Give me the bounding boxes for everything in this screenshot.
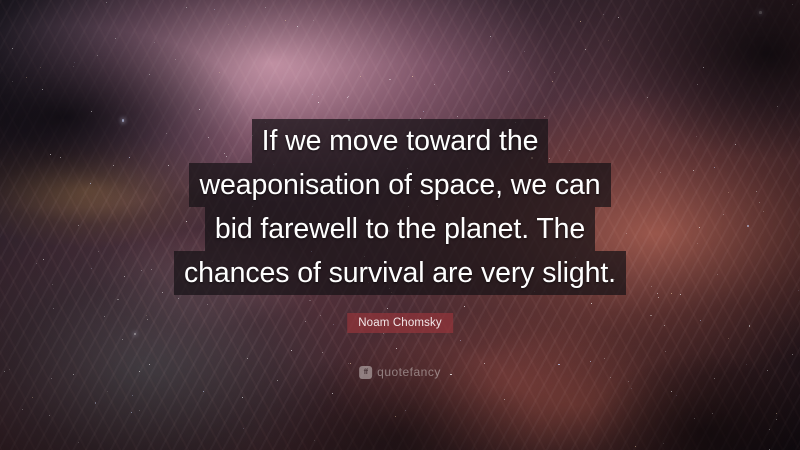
star-icon xyxy=(104,316,105,317)
star-icon xyxy=(333,324,334,325)
star-icon xyxy=(117,299,119,301)
star-icon xyxy=(32,397,33,398)
star-icon xyxy=(318,102,319,103)
watermark-brand-label: quotefancy xyxy=(377,366,441,379)
watermark[interactable]: ff quotefancy xyxy=(359,366,441,379)
star-icon xyxy=(312,94,313,95)
star-icon xyxy=(558,364,560,366)
star-icon xyxy=(395,416,396,417)
star-icon xyxy=(694,418,695,419)
star-icon xyxy=(712,413,713,414)
star-icon xyxy=(603,14,604,15)
star-icon xyxy=(618,17,619,18)
star-icon xyxy=(154,42,155,43)
star-icon xyxy=(318,96,319,97)
star-icon xyxy=(186,7,187,8)
star-icon xyxy=(243,428,244,429)
star-icon xyxy=(149,364,150,365)
star-icon xyxy=(291,350,292,351)
star-icon xyxy=(464,306,465,307)
star-icon xyxy=(347,97,348,98)
star-icon xyxy=(146,315,147,316)
star-icon xyxy=(242,397,243,398)
star-icon xyxy=(608,40,609,41)
star-icon xyxy=(544,116,545,117)
star-icon xyxy=(134,333,137,336)
star-icon xyxy=(697,84,698,85)
star-icon xyxy=(777,106,778,107)
star-icon xyxy=(228,24,229,25)
star-icon xyxy=(247,358,248,359)
star-icon xyxy=(759,11,762,14)
quote-line: chances of survival are very slight. xyxy=(174,251,626,295)
star-icon xyxy=(635,446,636,447)
star-icon xyxy=(508,71,509,72)
star-icon xyxy=(658,297,659,298)
quote-text-block: If we move toward the weaponisation of s… xyxy=(0,119,800,295)
star-icon xyxy=(776,419,777,420)
star-icon xyxy=(728,338,729,339)
star-icon xyxy=(285,20,286,21)
star-icon xyxy=(360,76,361,77)
star-icon xyxy=(457,116,458,117)
star-icon xyxy=(122,339,123,340)
star-icon xyxy=(277,380,278,381)
star-icon xyxy=(26,77,27,78)
star-icon xyxy=(322,352,323,353)
star-icon xyxy=(628,381,629,382)
star-icon xyxy=(423,111,424,112)
star-icon xyxy=(389,79,391,81)
star-icon xyxy=(348,363,349,364)
star-icon xyxy=(650,315,652,317)
star-icon xyxy=(610,377,611,378)
star-icon xyxy=(12,48,13,49)
quote-line: If we move toward the xyxy=(252,119,549,163)
star-icon xyxy=(115,38,116,39)
star-icon xyxy=(412,76,413,77)
star-icon xyxy=(484,363,485,364)
star-icon xyxy=(434,84,435,85)
star-icon xyxy=(4,371,5,372)
star-icon xyxy=(676,395,677,396)
star-icon xyxy=(139,410,140,411)
star-icon xyxy=(450,374,452,376)
star-icon xyxy=(42,89,43,90)
star-icon xyxy=(91,111,92,112)
star-icon xyxy=(671,391,672,392)
star-icon xyxy=(792,354,793,355)
star-icon xyxy=(703,67,704,68)
star-icon xyxy=(73,66,74,67)
quote-line: bid farewell to the planet. The xyxy=(205,207,595,251)
star-icon xyxy=(332,393,333,394)
star-icon xyxy=(604,358,605,359)
star-icon xyxy=(219,72,220,73)
star-icon xyxy=(132,395,133,396)
star-icon xyxy=(9,369,10,370)
star-icon xyxy=(199,109,200,110)
star-icon xyxy=(139,371,140,372)
star-icon xyxy=(207,304,208,305)
star-icon xyxy=(405,410,406,411)
star-icon xyxy=(524,51,526,53)
star-icon xyxy=(776,413,777,414)
star-icon xyxy=(769,429,770,430)
star-icon xyxy=(309,300,311,302)
star-icon xyxy=(590,361,591,362)
star-icon xyxy=(504,399,505,400)
star-icon xyxy=(305,321,306,322)
star-icon xyxy=(40,67,41,68)
star-icon xyxy=(591,303,592,304)
star-icon xyxy=(175,59,176,60)
star-icon xyxy=(767,370,768,371)
star-icon xyxy=(95,402,97,404)
star-icon xyxy=(746,364,747,365)
star-icon xyxy=(203,391,204,392)
star-icon xyxy=(554,72,555,73)
star-icon xyxy=(396,348,398,350)
star-icon xyxy=(714,378,715,379)
star-icon xyxy=(97,55,98,56)
star-icon xyxy=(663,443,664,444)
star-icon xyxy=(350,363,351,364)
quotefancy-logo-icon: ff xyxy=(359,366,372,379)
star-icon xyxy=(22,409,23,410)
star-icon xyxy=(297,26,298,27)
star-icon xyxy=(460,340,461,341)
star-icon xyxy=(585,49,586,50)
star-icon xyxy=(149,74,150,75)
star-icon xyxy=(348,96,349,97)
star-icon xyxy=(265,7,267,9)
star-icon xyxy=(320,315,321,316)
star-icon xyxy=(214,9,215,10)
star-icon xyxy=(49,415,50,416)
star-icon xyxy=(749,325,751,327)
star-icon xyxy=(664,325,665,326)
quote-poster: If we move toward the weaponisation of s… xyxy=(0,0,800,450)
star-icon xyxy=(107,391,108,392)
star-icon xyxy=(178,298,179,299)
star-icon xyxy=(74,62,75,63)
star-icon xyxy=(51,378,52,379)
star-icon xyxy=(490,36,491,37)
star-icon xyxy=(313,20,315,22)
star-icon xyxy=(631,388,632,389)
star-icon xyxy=(106,2,107,3)
star-icon xyxy=(147,319,148,320)
quote-line: weaponisation of space, we can xyxy=(189,163,610,207)
star-icon xyxy=(131,412,132,413)
star-icon xyxy=(387,308,388,309)
star-icon xyxy=(552,81,553,82)
star-icon xyxy=(665,351,666,352)
star-icon xyxy=(647,97,648,98)
star-icon xyxy=(792,4,793,5)
star-icon xyxy=(580,21,581,22)
star-icon xyxy=(53,308,55,310)
star-icon xyxy=(78,442,79,443)
star-icon xyxy=(314,440,315,441)
star-icon xyxy=(73,374,74,375)
star-icon xyxy=(700,320,701,321)
star-icon xyxy=(12,81,13,82)
star-icon xyxy=(245,26,246,27)
author-attribution-badge: Noam Chomsky xyxy=(347,313,453,333)
